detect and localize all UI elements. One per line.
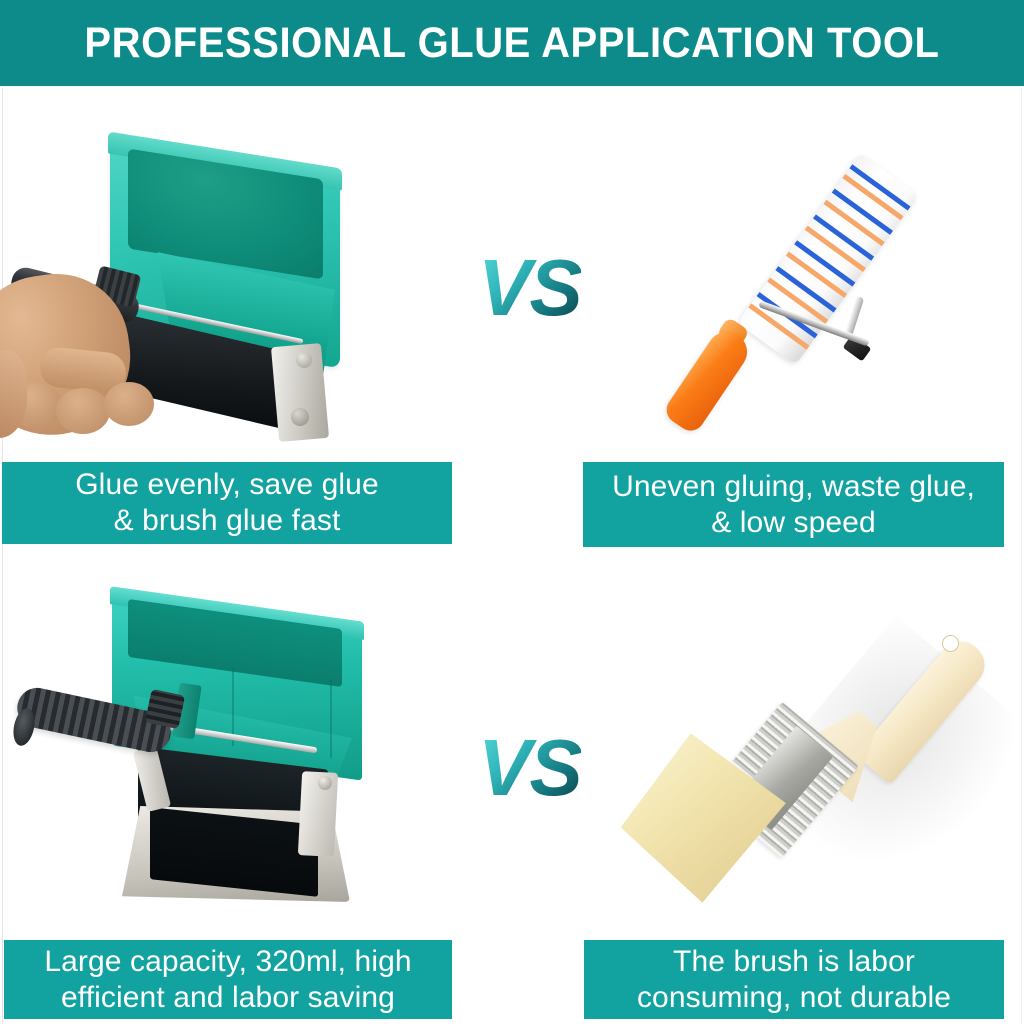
paint-roller-photo <box>660 150 1024 450</box>
glue-brush-photo <box>620 590 1024 930</box>
caption-alternative-bottom: The brush is labor consuming, not durabl… <box>584 940 1004 1019</box>
versus-divider-bottom: VS <box>478 728 581 808</box>
glue-applicator-standing-photo <box>0 580 420 930</box>
bracket-bolt-bottom <box>291 408 309 426</box>
versus-divider-top: VS <box>478 248 581 328</box>
caption-line-1: Uneven gluing, waste glue, <box>612 469 975 505</box>
roller-handle <box>661 324 755 436</box>
caption-product-bottom: Large capacity, 320ml, high efficient an… <box>4 940 452 1019</box>
caption-line-1: Glue evenly, save glue <box>75 467 379 503</box>
caption-product-top: Glue evenly, save glue & brush glue fast <box>2 462 452 544</box>
handle-collar <box>145 689 185 729</box>
caption-line-1: Large capacity, 320ml, high <box>44 944 411 980</box>
product-infographic-page: PROFESSIONAL GLUE APPLICATION TOOL VS <box>0 0 1024 1024</box>
caption-line-1: The brush is labor <box>637 944 951 980</box>
caption-line-2: & low speed <box>612 505 975 541</box>
roller-nap <box>737 153 919 365</box>
brush-hang-hole <box>942 635 959 652</box>
caption-line-2: efficient and labor saving <box>44 980 411 1016</box>
bracket-bolt-top <box>296 352 312 368</box>
header-banner: PROFESSIONAL GLUE APPLICATION TOOL <box>0 0 1024 86</box>
caption-line-2: & brush glue fast <box>75 503 379 539</box>
finger-2 <box>56 388 110 434</box>
finger-3 <box>104 382 154 426</box>
bracket-bolt <box>318 776 332 790</box>
caption-alternative-top: Uneven gluing, waste glue, & low speed <box>583 462 1004 547</box>
glue-applicator-in-hand-photo <box>0 120 420 450</box>
caption-line-2: consuming, not durable <box>637 980 951 1016</box>
hopper-seam-2 <box>330 680 332 758</box>
page-title: PROFESSIONAL GLUE APPLICATION TOOL <box>36 18 988 68</box>
